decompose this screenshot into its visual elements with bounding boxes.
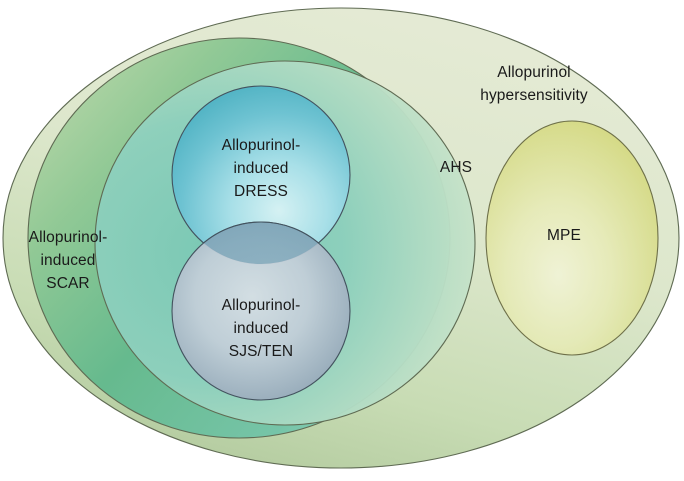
venn-diagram-svg: Allopurinol hypersensitivity Allopurinol… [0,0,684,481]
set-mpe[interactable] [486,121,658,355]
venn-diagram-canvas: Allopurinol hypersensitivity Allopurinol… [0,0,684,481]
